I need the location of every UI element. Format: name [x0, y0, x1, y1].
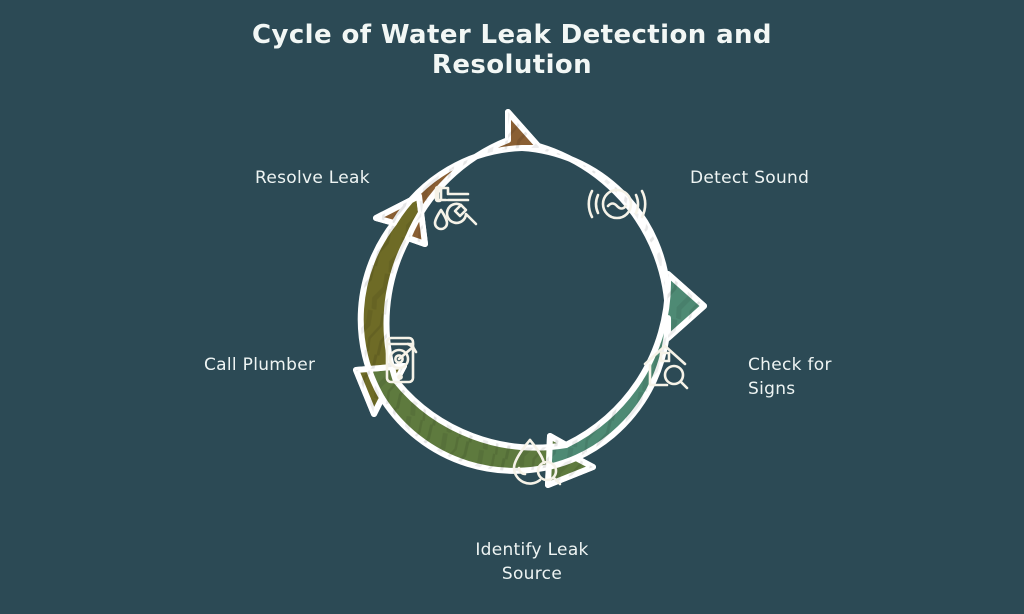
step-label-call-plumber: Call Plumber [204, 353, 315, 377]
step-label-check-for-signs: Check for Signs [748, 353, 858, 401]
step-label-identify-leak-source: Identify Leak Source [432, 538, 632, 586]
cycle-ring-svg [312, 104, 712, 504]
faucet-wrench-icon [435, 187, 476, 229]
step-label-resolve-leak: Resolve Leak [255, 166, 370, 190]
step-label-detect-sound: Detect Sound [690, 166, 809, 190]
cycle-diagram: Detect Sound Check for Signs Identify Le… [0, 0, 1024, 614]
cycle-segment-check-for-signs[interactable] [548, 274, 704, 485]
infographic-page: Cycle of Water Leak Detection and Resolu… [0, 0, 1024, 614]
cycle-segment-identify-leak-source[interactable] [356, 366, 593, 485]
